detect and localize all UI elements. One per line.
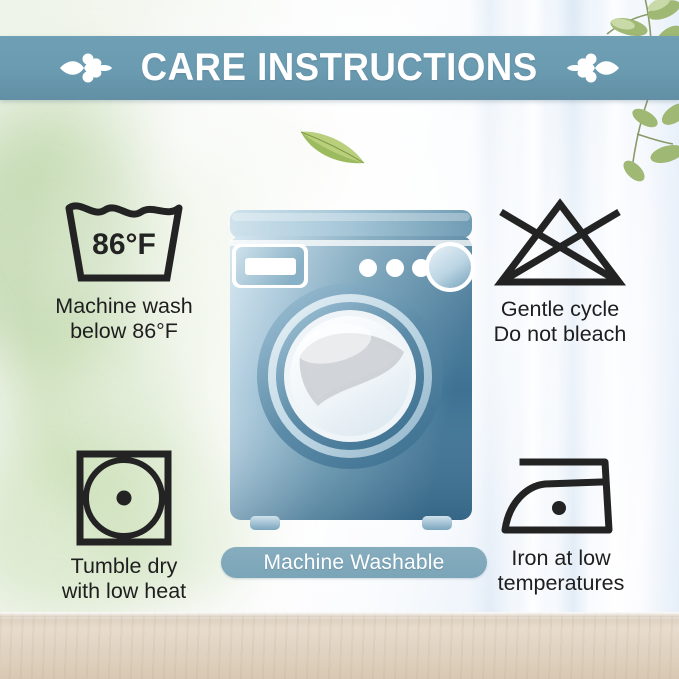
wash-temperature-value: 86°F: [92, 228, 156, 261]
page-title: CARE INSTRUCTIONS: [141, 46, 538, 90]
care-symbol-caption: Machine wash below 86°F: [6, 294, 242, 344]
care-symbol-tumble-dry: Tumble dry with low heat: [6, 448, 242, 604]
care-symbol-machine-wash: 86°F Machine wash below 86°F: [6, 196, 242, 344]
tumble-dry-low-heat-icon: [74, 448, 174, 548]
banner: CARE INSTRUCTIONS: [0, 36, 679, 100]
fleur-de-lis-ornament-icon: [58, 46, 114, 90]
floating-leaf-icon: [298, 122, 368, 168]
iron-low-temperature-icon: [497, 452, 625, 540]
washing-machine-illustration: [222, 206, 480, 538]
triangle-crossed-bleach-icon: [487, 196, 633, 291]
care-instructions-graphic: CARE INSTRUCTIONS 86°F Machine wash belo…: [0, 0, 679, 679]
wash-tub-icon: 86°F: [59, 196, 189, 288]
wood-grain-texture: [0, 612, 679, 679]
machine-washable-badge: Machine Washable: [221, 547, 487, 578]
fleur-de-lis-ornament-icon: [565, 46, 621, 90]
table-edge-highlight: [0, 612, 679, 617]
care-symbol-caption: Tumble dry with low heat: [6, 554, 242, 604]
wooden-table-surface: [0, 612, 679, 679]
badge-label: Machine Washable: [263, 551, 444, 575]
